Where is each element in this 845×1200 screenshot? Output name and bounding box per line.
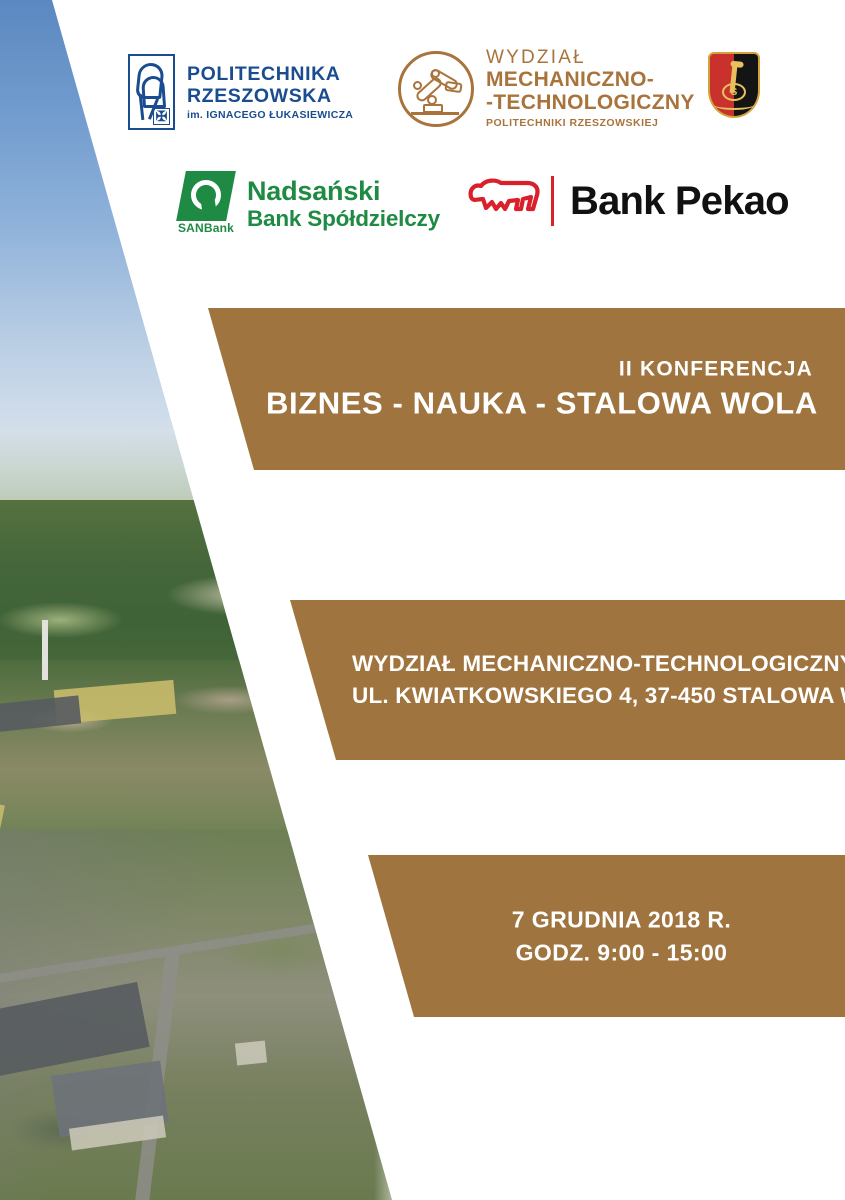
venue-line-1: WYDZIAŁ MECHANICZNO-TECHNOLOGICZNY PRZ [352,648,813,680]
logo-wmt-line1: WYDZIAŁ [486,48,695,69]
conference-kicker: II KONFERENCJA [266,357,813,383]
logo-wydzial-mechaniczno-technologiczny: WYDZIAŁ MECHANICZNO- -TECHNOLOGICZNY POL… [398,48,695,129]
sanbank-leaf-icon: SANBank [175,171,237,237]
robot-arm-circle-icon [398,51,474,127]
logo-sanbank-line1: Nadsański [247,177,440,206]
date-line-1: 7 GRUDNIA 2018 R. [430,903,813,936]
logo-sanbank-text: Nadsański Bank Spółdzielczy [247,177,440,231]
venue-line-2: UL. KWIATKOWSKIEGO 4, 37-450 STALOWA WOL… [352,680,813,712]
shield-crest-icon: S [708,52,760,118]
logo-politechnika-rzeszowska: ✠ POLITECHNIKA RZESZOWSKA im. IGNACEGO Ł… [128,54,353,130]
logo-bank-pekao: Bank Pekao [465,175,789,227]
crest-ribbon [714,100,754,110]
conference-poster: ✠ POLITECHNIKA RZESZOWSKA im. IGNACEGO Ł… [0,0,845,1200]
title-band: II KONFERENCJA BIZNES - NAUKA - STALOWA … [176,308,845,470]
logo-row-primary: ✠ POLITECHNIKA RZESZOWSKA im. IGNACEGO Ł… [120,42,835,152]
photo-road [0,908,418,986]
photo-building [235,1040,267,1065]
photo-chimney [42,620,48,680]
logo-wmt-line2: MECHANICZNO- [486,69,695,92]
bison-icon [465,175,543,227]
logo-nadsanski-bank-spoldzielczy: SANBank Nadsański Bank Spółdzielczy [175,171,440,237]
pr-monogram-icon: ✠ [128,54,175,130]
logo-prz-line3: im. IGNACEGO ŁUKASIEWICZA [187,109,353,121]
logo-wmt-text: WYDZIAŁ MECHANICZNO- -TECHNOLOGICZNY POL… [486,48,695,129]
crest-monogram: S [722,83,746,101]
logo-row-sponsors: SANBank Nadsański Bank Spółdzielczy Bank… [165,163,835,253]
venue-band: WYDZIAŁ MECHANICZNO-TECHNOLOGICZNY PRZ U… [262,600,845,760]
pekao-divider [551,176,554,226]
logo-sanbank-line2: Bank Spółdzielczy [247,206,440,231]
logo-prz-line1: POLITECHNIKA [187,63,353,85]
logo-pekao-text: Bank Pekao [570,181,789,221]
photo-industrial-area [0,830,420,1200]
sanbank-mark-label: SANBank [175,221,237,235]
logo-shield-crest: S [708,52,760,118]
logo-wmt-line3: -TECHNOLOGICZNY [486,92,695,115]
logo-politechnika-text: POLITECHNIKA RZESZOWSKA im. IGNACEGO ŁUK… [187,63,353,121]
date-band: 7 GRUDNIA 2018 R. GODZ. 9:00 - 15:00 [340,855,845,1017]
logo-wmt-line4: POLITECHNIKI RZESZOWSKIEJ [486,117,695,129]
date-line-2: GODZ. 9:00 - 15:00 [430,936,813,969]
logo-prz-line2: RZESZOWSKA [187,85,353,107]
conference-headline: BIZNES - NAUKA - STALOWA WOLA [266,387,813,422]
